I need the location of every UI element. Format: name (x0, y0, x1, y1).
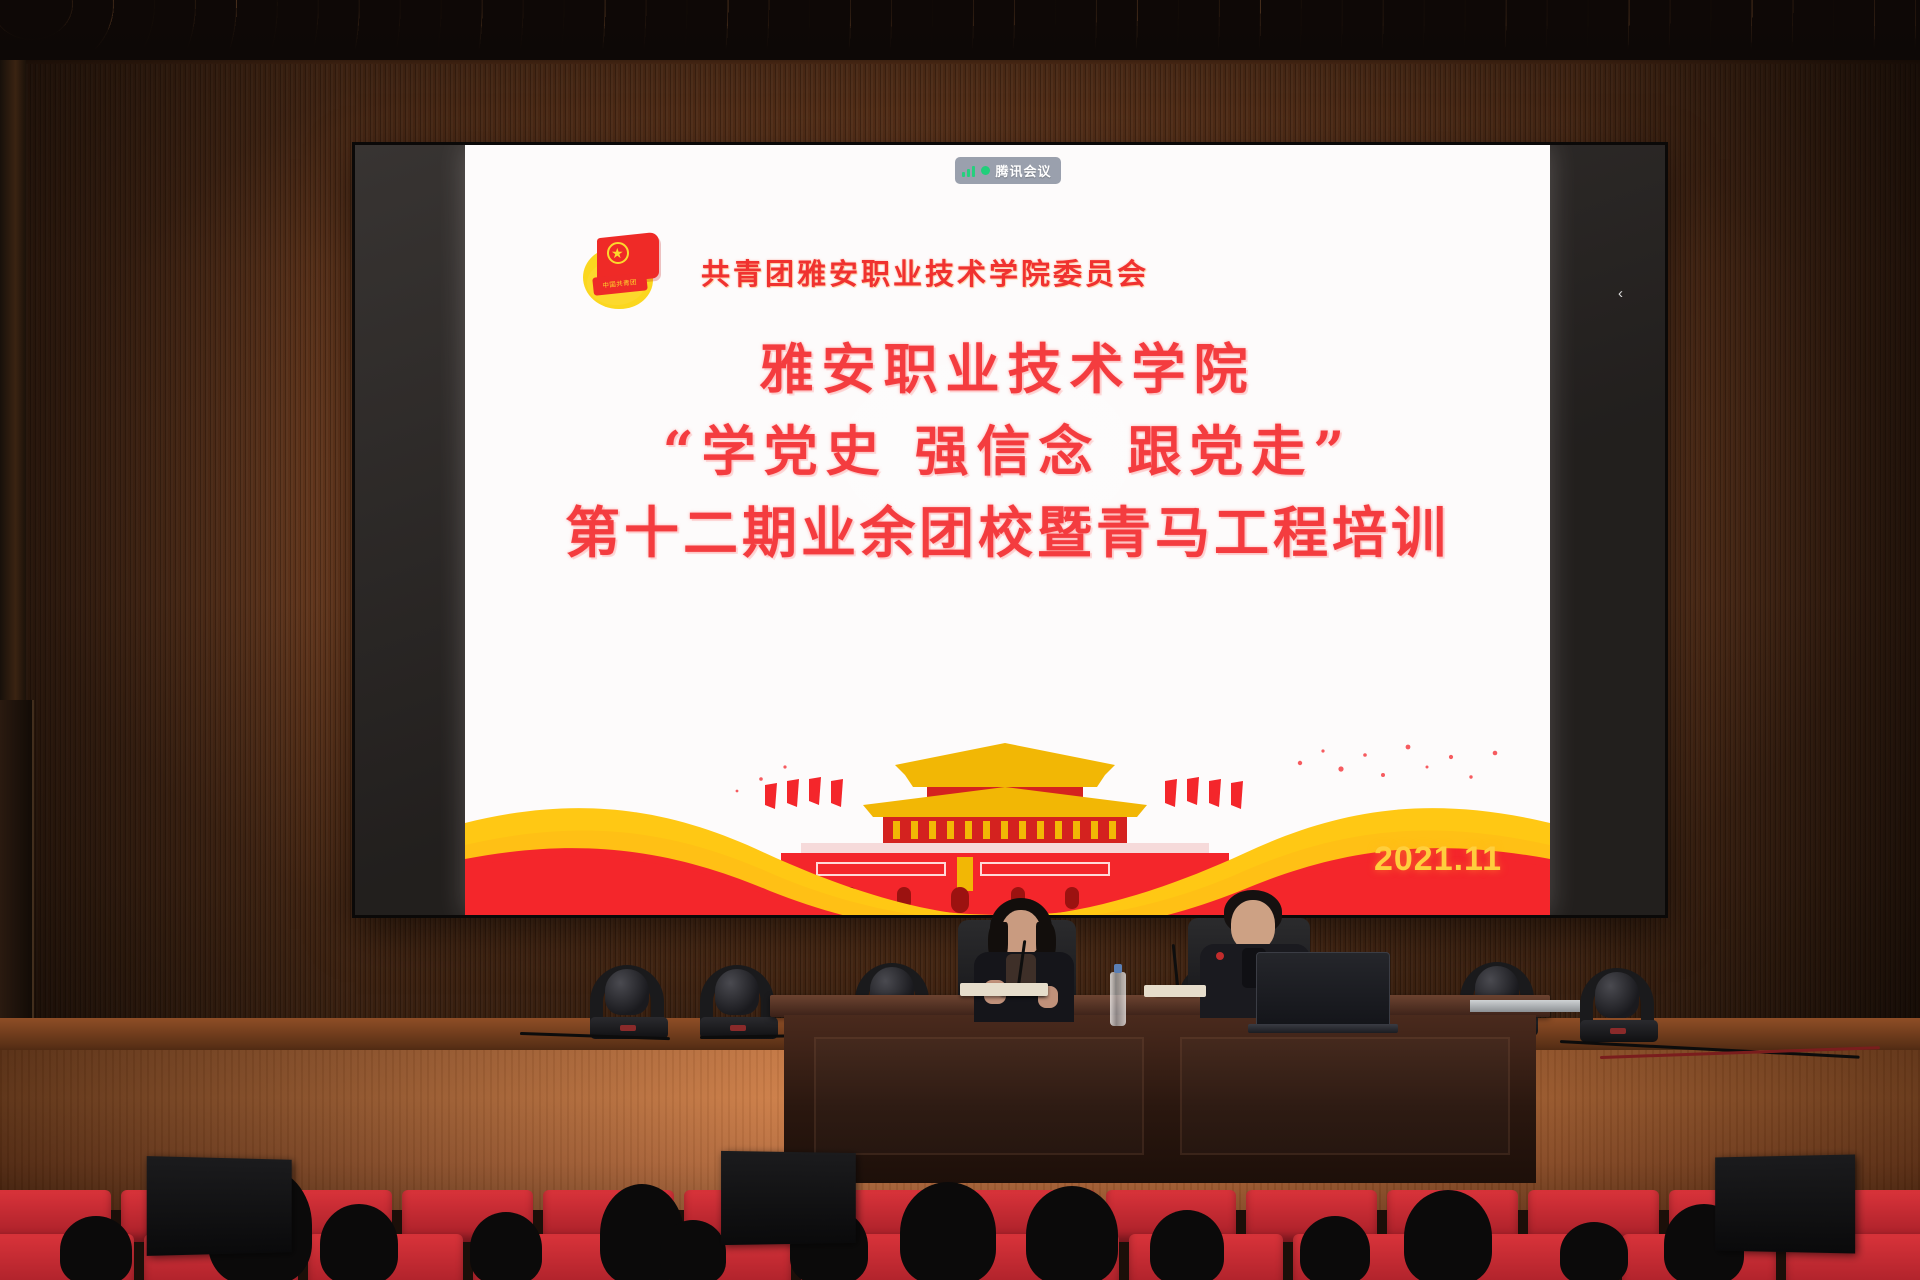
ceiling-curtain-valance (0, 0, 1920, 60)
open-notebook (1144, 985, 1206, 997)
tencent-meeting-badge: 腾讯会议 (954, 157, 1060, 184)
tiananmen-gate-artwork (465, 735, 1550, 915)
attendee-silhouette (1560, 1222, 1628, 1280)
podium-side-shelf (1470, 1000, 1580, 1012)
attendee-silhouette (1300, 1216, 1370, 1280)
confetti-specks (736, 745, 1498, 793)
pennant-flags-right (1165, 777, 1243, 809)
attendee-silhouette (60, 1216, 132, 1280)
attendee-silhouette (1150, 1210, 1224, 1280)
organization-name: 共青团雅安职业技术学院委员会 (701, 251, 1149, 293)
presentation-slide: 腾讯会议 ★ 中国共青团 共青团雅安职业技术学院委员会 (465, 145, 1550, 915)
speaker-podium-table (770, 995, 1550, 1185)
attendee-silhouette (320, 1204, 398, 1280)
stage-side-door (0, 700, 34, 1060)
slide-title-block: 雅安职业技术学院 “学党史 强信念 跟党走” 第十二期业余团校暨青马工程培训 (465, 341, 1550, 566)
lapel-badge (1216, 952, 1224, 960)
attendee-silhouette (900, 1182, 996, 1280)
slide-title-line-1: 雅安职业技术学院 (465, 341, 1550, 398)
status-dot-icon (980, 166, 989, 175)
stage-monitor-speaker (147, 1156, 292, 1256)
slide-title-line-3: 第十二期业余团校暨青马工程培训 (465, 500, 1550, 566)
meeting-app-background: 说点什么... ‹ ‹ 腾讯会议 (355, 145, 1665, 915)
slide-title-line-2: “学党史 强信念 跟党走” (465, 416, 1550, 486)
open-notebook (960, 983, 1048, 996)
tencent-meeting-label: 腾讯会议 (995, 161, 1051, 180)
stage-monitor-speaker (1715, 1154, 1855, 1253)
slide-date: 2021.11 (1374, 840, 1502, 879)
emblem-banner-text: 中国共青团 (602, 278, 637, 291)
organization-header: ★ 中国共青团 共青团雅安职业技术学院委员会 (583, 231, 1149, 313)
pennant-flags-left (765, 777, 843, 809)
communist-youth-league-emblem-icon: ★ 中国共青团 (583, 231, 665, 313)
projection-screen: 说点什么... ‹ ‹ 腾讯会议 (355, 145, 1665, 915)
attendee-silhouette (660, 1220, 726, 1280)
stage-monitor-speaker (721, 1151, 856, 1245)
attendee-silhouette (1026, 1186, 1118, 1280)
attendee-silhouette (1404, 1190, 1492, 1280)
auditorium-scene: 说点什么... ‹ ‹ 腾讯会议 (0, 0, 1920, 1280)
water-bottle (1110, 972, 1126, 1026)
side-panel-chevron-left-icon[interactable]: ‹ (1618, 285, 1623, 302)
signal-bars-icon (961, 165, 974, 177)
attendee-silhouette (470, 1212, 542, 1280)
